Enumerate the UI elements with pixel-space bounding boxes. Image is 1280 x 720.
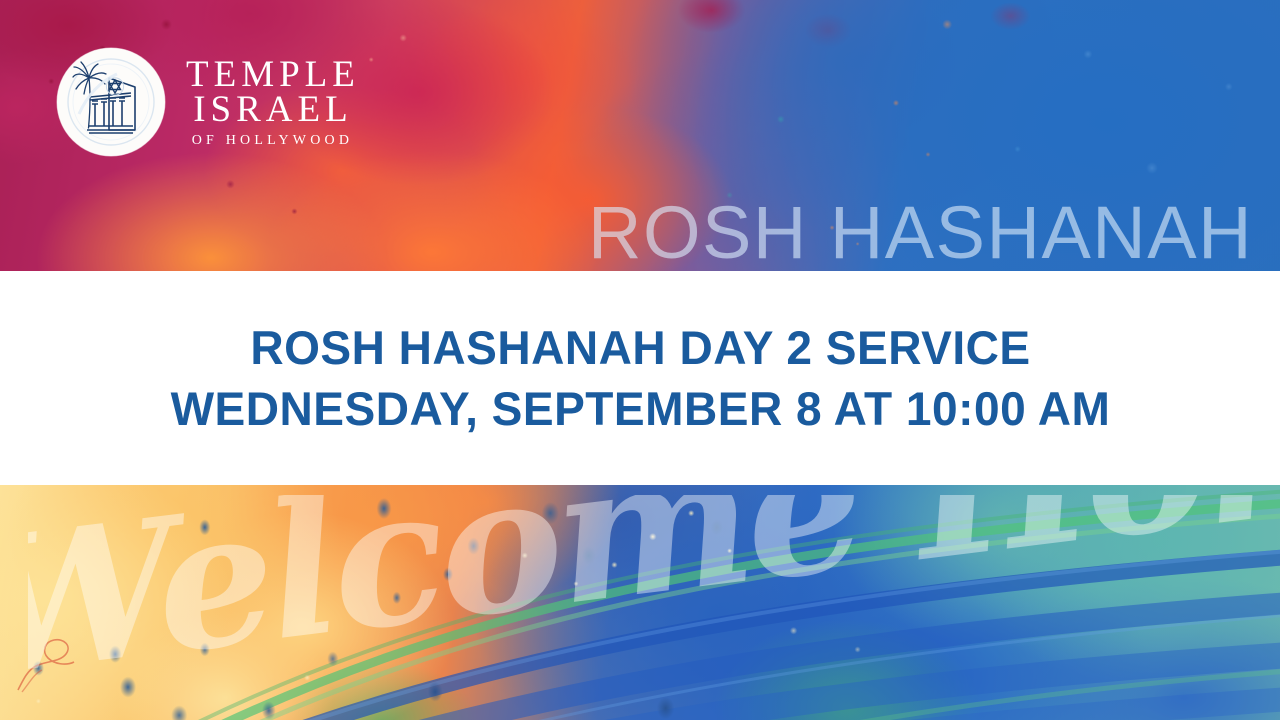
red-loop-squiggle-icon — [14, 616, 110, 696]
temple-israel-logo: TEMPLE ISRAEL OF HOLLYWOOD — [57, 48, 360, 156]
bottom-artwork-banner: Welcome Home — [0, 485, 1280, 720]
event-headline: ROSH HASHANAH DAY 2 SERVICE WEDNESDAY, S… — [161, 322, 1120, 434]
temple-israel-seal-icon — [57, 48, 165, 156]
rosh-hashanah-watermark-text: ROSH HASHANAH — [588, 196, 1253, 270]
temple-israel-wordmark: TEMPLE ISRAEL OF HOLLYWOOD — [181, 57, 360, 147]
wordmark-line-temple: TEMPLE — [181, 57, 360, 93]
headline-line-1: ROSH HASHANAH DAY 2 SERVICE — [170, 322, 1110, 374]
event-announcement-slide: ROSH HASHANAH — [0, 0, 1280, 720]
event-details-band: ROSH HASHANAH DAY 2 SERVICE WEDNESDAY, S… — [0, 271, 1280, 485]
headline-line-2: WEDNESDAY, SEPTEMBER 8 AT 10:00 AM — [170, 383, 1110, 435]
top-artwork-banner: ROSH HASHANAH — [0, 0, 1280, 271]
bottom-paint-speckles — [0, 485, 1280, 720]
wordmark-line-of-hollywood: OF HOLLYWOOD — [188, 134, 353, 147]
wordmark-line-israel: ISRAEL — [188, 92, 353, 128]
